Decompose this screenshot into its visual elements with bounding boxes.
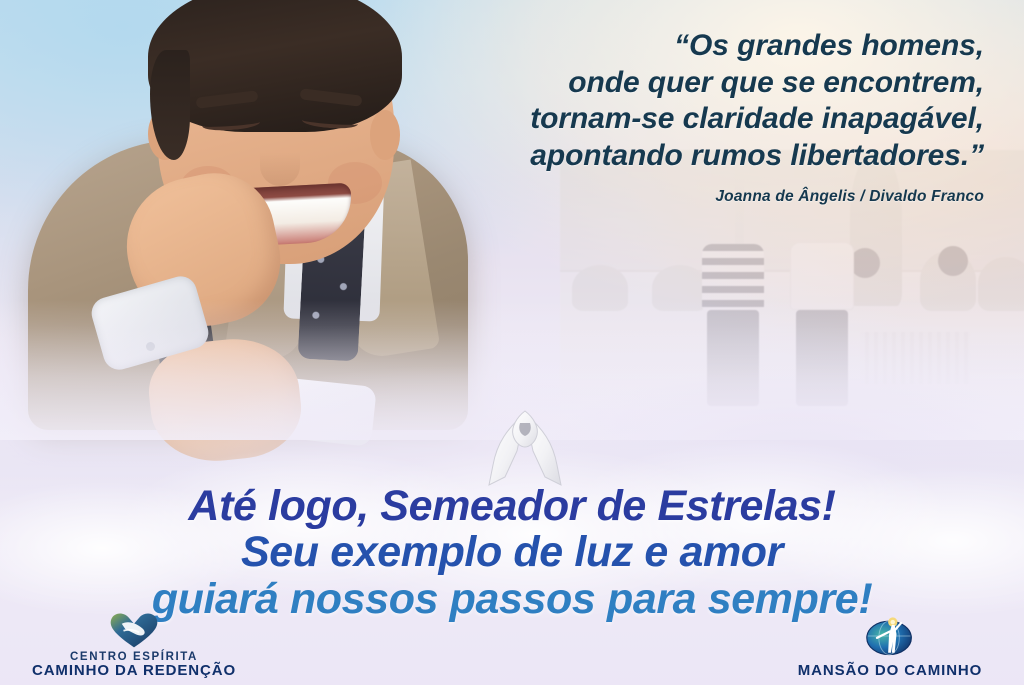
quote-line-3: tornam-se claridade inapagável, (424, 101, 984, 138)
quote-line-4: apontando rumos libertadores.” (424, 138, 984, 175)
footer-logos: CENTRO ESPÍRITA CAMINHO DA REDENÇÃO (0, 607, 1024, 685)
logo-centro-espirita: CENTRO ESPÍRITA CAMINHO DA REDENÇÃO (14, 608, 254, 679)
headline-block: Até logo, Semeador de Estrelas! Seu exem… (0, 484, 1024, 621)
logo-mansao-do-caminho: MANSÃO DO CAMINHO (770, 613, 1010, 679)
portrait-photo-divaldo-franco (10, 0, 480, 420)
logo-left-line-2: CAMINHO DA REDENÇÃO (32, 663, 236, 679)
quote-block: “Os grandes homens, onde quer que se enc… (424, 28, 984, 206)
quote-author: Joanna de Ângelis / Divaldo Franco (424, 188, 984, 206)
memorial-poster: “Os grandes homens, onde quer que se enc… (0, 0, 1024, 685)
white-mourning-ribbon-icon (487, 407, 563, 491)
quote-line-2: onde quer que se encontrem, (424, 65, 984, 102)
heart-hands-logo-icon (106, 608, 162, 650)
quote-line-1: “Os grandes homens, (424, 28, 984, 65)
globe-figure-logo-icon (864, 613, 916, 659)
headline-line-2: Seu exemplo de luz e amor (0, 530, 1024, 574)
logo-right-label: MANSÃO DO CAMINHO (798, 662, 982, 679)
headline-line-1: Até logo, Semeador de Estrelas! (0, 484, 1024, 528)
